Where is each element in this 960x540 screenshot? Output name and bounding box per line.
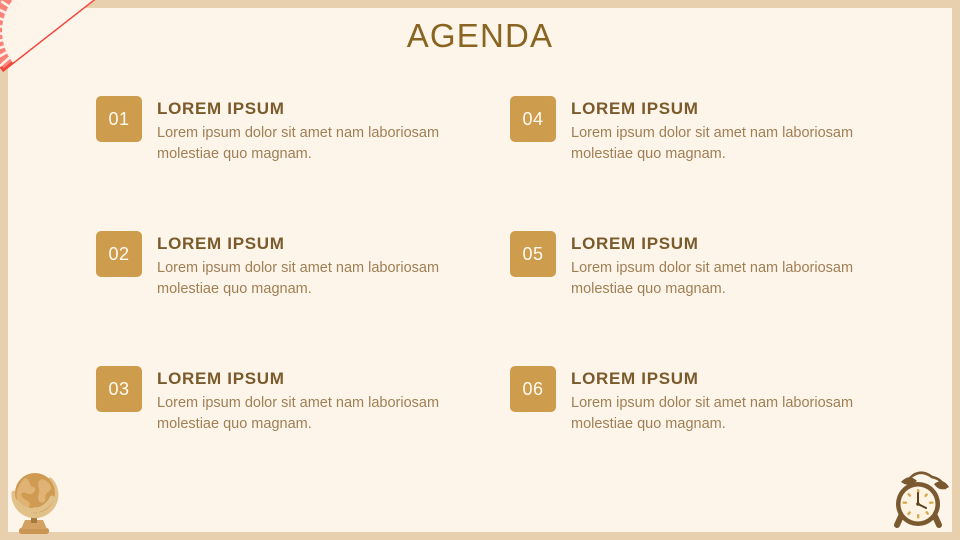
- agenda-item-number-badge: 05: [510, 231, 556, 277]
- agenda-item-text: LOREM IPSUM Lorem ipsum dolor sit amet n…: [571, 96, 871, 165]
- agenda-item-number-badge: 02: [96, 231, 142, 277]
- agenda-item[interactable]: 06 LOREM IPSUM Lorem ipsum dolor sit ame…: [510, 366, 900, 476]
- agenda-item-number-badge: 01: [96, 96, 142, 142]
- agenda-item-text: LOREM IPSUM Lorem ipsum dolor sit amet n…: [157, 231, 457, 300]
- agenda-item-text: LOREM IPSUM Lorem ipsum dolor sit amet n…: [571, 366, 871, 435]
- agenda-slide: AGENDA 01 LOREM IPSUM Lorem ipsum dolor …: [0, 0, 960, 540]
- agenda-item-description: Lorem ipsum dolor sit amet nam laboriosa…: [571, 393, 871, 435]
- agenda-item[interactable]: 03 LOREM IPSUM Lorem ipsum dolor sit ame…: [96, 366, 486, 476]
- agenda-item-heading: LOREM IPSUM: [157, 368, 457, 390]
- agenda-item-description: Lorem ipsum dolor sit amet nam laboriosa…: [571, 258, 871, 300]
- agenda-list: 01 LOREM IPSUM Lorem ipsum dolor sit ame…: [96, 96, 896, 456]
- agenda-item-heading: LOREM IPSUM: [157, 233, 457, 255]
- agenda-item-heading: LOREM IPSUM: [571, 98, 871, 120]
- agenda-item[interactable]: 01 LOREM IPSUM Lorem ipsum dolor sit ame…: [96, 96, 486, 206]
- agenda-item[interactable]: 04 LOREM IPSUM Lorem ipsum dolor sit ame…: [510, 96, 900, 206]
- agenda-item[interactable]: 05 LOREM IPSUM Lorem ipsum dolor sit ame…: [510, 231, 900, 341]
- agenda-item-description: Lorem ipsum dolor sit amet nam laboriosa…: [571, 123, 871, 165]
- agenda-item-text: LOREM IPSUM Lorem ipsum dolor sit amet n…: [157, 96, 457, 165]
- agenda-item-text: LOREM IPSUM Lorem ipsum dolor sit amet n…: [571, 231, 871, 300]
- agenda-item-number-badge: 03: [96, 366, 142, 412]
- agenda-item-text: LOREM IPSUM Lorem ipsum dolor sit amet n…: [157, 366, 457, 435]
- agenda-item-description: Lorem ipsum dolor sit amet nam laboriosa…: [157, 258, 457, 300]
- agenda-item-description: Lorem ipsum dolor sit amet nam laboriosa…: [157, 393, 457, 435]
- agenda-item-description: Lorem ipsum dolor sit amet nam laboriosa…: [157, 123, 457, 165]
- agenda-item[interactable]: 02 LOREM IPSUM Lorem ipsum dolor sit ame…: [96, 231, 486, 341]
- agenda-item-heading: LOREM IPSUM: [571, 368, 871, 390]
- agenda-item-heading: LOREM IPSUM: [571, 233, 871, 255]
- agenda-item-number-badge: 04: [510, 96, 556, 142]
- agenda-item-number-badge: 06: [510, 366, 556, 412]
- page-title: AGENDA: [0, 16, 960, 56]
- agenda-item-heading: LOREM IPSUM: [157, 98, 457, 120]
